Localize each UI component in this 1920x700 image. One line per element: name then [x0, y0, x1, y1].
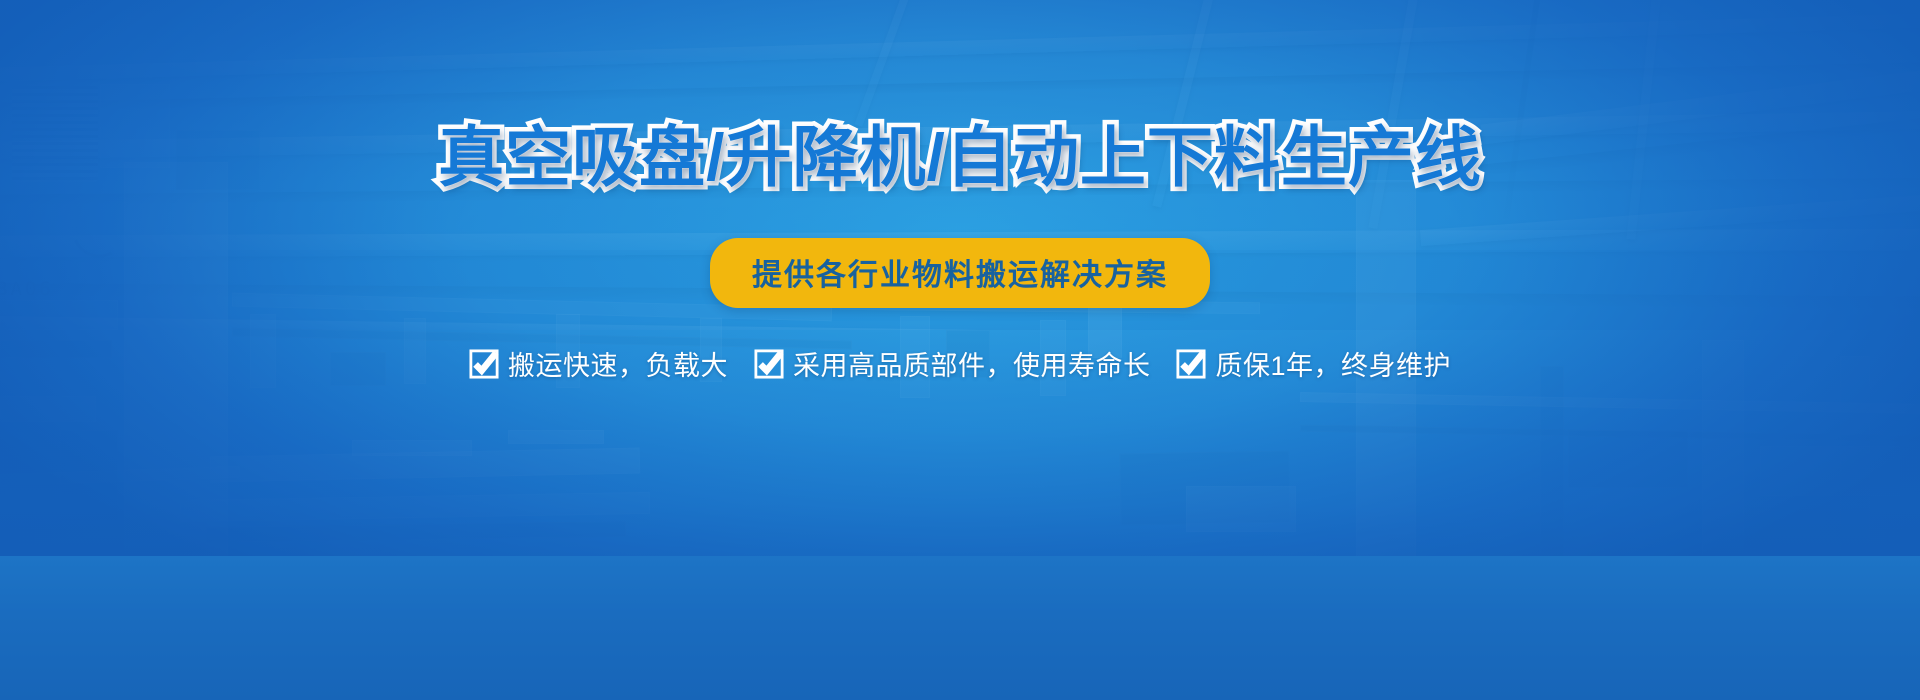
feature-label: 质保1年，终身维护 — [1215, 344, 1451, 383]
feature-label: 采用高品质部件，使用寿命长 — [793, 344, 1151, 383]
check-box-icon — [469, 349, 499, 379]
hero-banner: BA06 — [0, 0, 1920, 700]
feature-list: 搬运快速，负载大 采用高品质部件，使用寿命长 质保1年，终身维护 — [0, 344, 1920, 383]
banner-content: 真空吸盘/升降机/自动上下料生产线 提供各行业物料搬运解决方案 搬运快速，负载大… — [0, 0, 1920, 700]
feature-item: 搬运快速，负载大 — [469, 344, 728, 383]
check-box-icon — [754, 349, 784, 379]
feature-item: 质保1年，终身维护 — [1176, 344, 1451, 383]
check-box-icon — [1176, 349, 1206, 379]
subtitle-badge: 提供各行业物料搬运解决方案 — [710, 238, 1210, 308]
banner-headline: 真空吸盘/升降机/自动上下料生产线 — [0, 124, 1920, 190]
banner-subtitle-row: 提供各行业物料搬运解决方案 — [0, 238, 1920, 308]
feature-label: 搬运快速，负载大 — [508, 344, 728, 383]
feature-item: 采用高品质部件，使用寿命长 — [754, 344, 1151, 383]
